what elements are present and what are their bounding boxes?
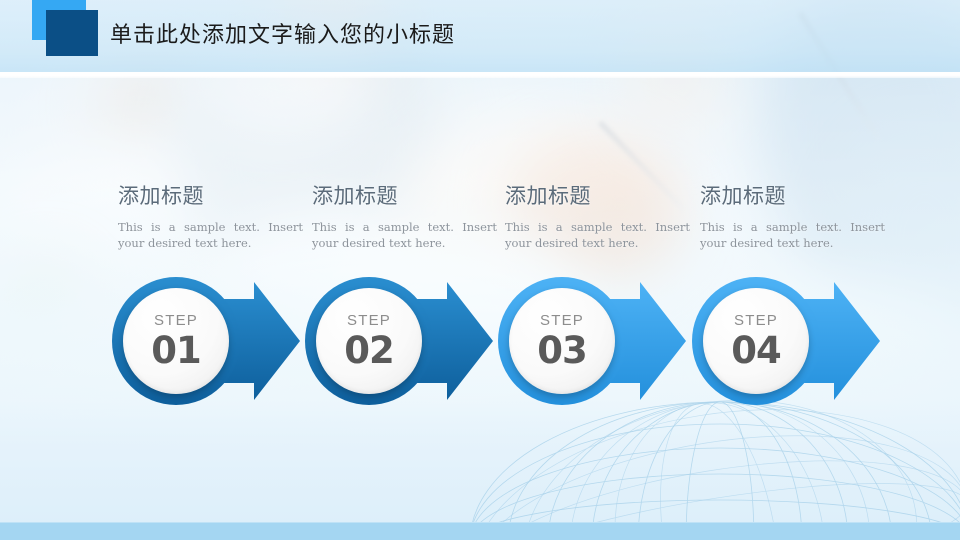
step-item-4[interactable]: STEP 04 — [684, 276, 914, 406]
column-body-3: This is a sample text. Insert your desir… — [505, 219, 690, 251]
header-accent-square-dark — [46, 10, 98, 56]
globe-wireframe-decoration — [420, 392, 960, 540]
step-label-4: STEP — [734, 313, 778, 328]
column-title-1: 添加标题 — [118, 180, 303, 210]
step-inner-circle-1: STEP 01 — [123, 288, 229, 394]
column-body-4: This is a sample text. Insert your desir… — [700, 219, 885, 251]
step-number-1: 01 — [151, 332, 201, 369]
content-column-3: 添加标题 This is a sample text. Insert your … — [505, 180, 690, 251]
page-title: 单击此处添加文字输入您的小标题 — [110, 17, 455, 49]
content-column-2: 添加标题 This is a sample text. Insert your … — [312, 180, 497, 251]
content-column-4: 添加标题 This is a sample text. Insert your … — [700, 180, 885, 251]
step-label-1: STEP — [154, 313, 198, 328]
column-title-4: 添加标题 — [700, 180, 885, 210]
step-label-2: STEP — [347, 313, 391, 328]
column-title-3: 添加标题 — [505, 180, 690, 210]
content-column-1: 添加标题 This is a sample text. Insert your … — [118, 180, 303, 251]
step-number-3: 03 — [537, 332, 587, 369]
step-inner-circle-3: STEP 03 — [509, 288, 615, 394]
step-inner-circle-2: STEP 02 — [316, 288, 422, 394]
slide-canvas: 单击此处添加文字输入您的小标题 添加标题 This is a sample te… — [0, 0, 960, 540]
column-body-1: This is a sample text. Insert your desir… — [118, 219, 303, 251]
step-inner-circle-4: STEP 04 — [703, 288, 809, 394]
step-label-3: STEP — [540, 313, 584, 328]
step-number-4: 04 — [731, 332, 781, 369]
step-sequence: STEP 01 STEP 02 — [0, 276, 960, 406]
column-body-2: This is a sample text. Insert your desir… — [312, 219, 497, 251]
header-divider-rule — [0, 72, 960, 78]
step-number-2: 02 — [344, 332, 394, 369]
column-title-2: 添加标题 — [312, 180, 497, 210]
footer-bar — [0, 522, 960, 540]
